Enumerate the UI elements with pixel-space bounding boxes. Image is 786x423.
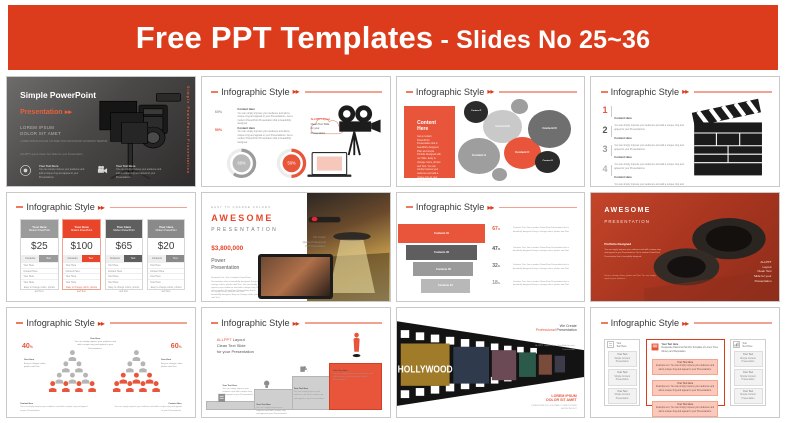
slide33-header-title: Infographic Style [26,318,94,328]
column-right-box-2: Your Text Simple Content Presentation [734,369,763,385]
column-left-box3-body: Simple Content Presentation [610,394,635,401]
slide34-step2-title: Your Text Here [256,404,270,406]
slide33-foot-left-body: You can simply impress your audience and… [20,406,88,412]
slide30-title: AWESOME [211,213,273,223]
chart-icon [733,341,740,348]
pricing-card-4-subhead: Modern PowerPoint [156,229,177,232]
bubble-content-a[interactable]: Content A [458,138,499,174]
donut-60-label: 60% [237,160,246,165]
dash-icon [211,91,218,93]
slide30-body2: Get a modern PowerPoint Presentation tha… [211,290,261,300]
slide31-header-title: Infographic Style [416,202,484,212]
column-mid-box3-body: Example text. You can simply impress you… [654,407,716,414]
column-right-box2-title: Your Text [743,372,753,374]
slide-thumbnail-33[interactable]: Infographic Style ▸▸ 40% Your Here Easy … [6,307,196,418]
funnel-bar-2[interactable]: Contents 02 [406,245,477,260]
puzzle-icon [299,365,308,375]
slide33-foot-left: Content Here You can simply impress your… [20,403,88,412]
slide27-panel-body1: Get a modern PowerPoint Presentation tha… [417,135,441,183]
slide25-title-line2: Presentation ▸▸ [20,106,72,116]
slide34-step-text-3: Your Text Here You can simply impress yo… [294,388,326,401]
column-mid-box1-body: Example text. You can simply impress you… [654,365,716,372]
slide-thumbnail-36[interactable]: Infographic Style ▸▸ Your Text Here [590,307,780,418]
pricing-card-4-foot: Easy to change colors, photos and Text. [148,284,184,297]
slide-25-canvas: Simple PowerPoint Presentation ▸▸ LOREM … [7,77,195,186]
slide32-section-title: Portfolio Designed [604,242,631,246]
pricing-card-1[interactable]: Your Here Modern PowerPoint $25 Contents… [20,219,58,291]
pricing-card-4-price: $20 [148,238,184,255]
slide25-title-text: Presentation [20,109,62,116]
slide33-foot-right-body: You can simply impress your audience and… [114,406,182,412]
bubble-content-f[interactable]: Content F [464,101,488,123]
header-rule [305,91,382,93]
funnel-pct-1: 67% [492,226,500,232]
slide-thumbnail-27[interactable]: Infographic Style ▸▸ Content Here Get a … [396,76,586,187]
slide33-foot-right: Content Here You can simply impress your… [114,403,182,412]
funnel-pct-3: 32% [492,263,500,269]
slide27-panel-body2: Get a modern PowerPoint Presentation tha… [417,185,441,187]
slide34-header-title: Infographic Style [221,318,289,328]
column-mid-box-3: Your Text Here Example text. You can sim… [652,401,718,417]
pricing-card-1-btn-right[interactable]: Text [39,255,57,263]
dash-icon [601,322,608,324]
slide30-eyebrow: EASY TO CHANGE COLORS [211,206,271,209]
camera-lenses-icon [644,193,779,302]
clapperboard-icon [683,97,773,182]
column-right-title2: Text Here [742,345,752,348]
slide-thumbnail-28[interactable]: Infographic Style ▸▸ 1 Content HereYou c… [590,76,780,187]
pricing-card-3[interactable]: Your Here Modern PowerPoint $65 Contents… [105,219,143,291]
column-right-box3-body: Simple Content Presentation [736,394,761,401]
pricing-card-1-subhead: Modern PowerPoint [29,229,50,232]
slide32-body2: Easy to change colors, photos and Text. … [604,275,660,281]
slide33-left-text: Your Here Easy to change colors, photos … [24,359,48,369]
slide33-mid-text: Your Here You can simply impress your au… [73,338,118,351]
slide25-body2: ALLPPT Layout Clean Text Slide for your … [20,153,82,157]
column-mid-box-2: Your Text Here Example text. You can sim… [652,380,718,396]
slide33-mid-body: You can simply impress your audience and… [73,341,118,351]
book-icon [651,343,659,351]
column-right-box2-body: Simple Content Presentation [736,376,761,383]
column-mid-box3-title: Your Text Here [677,404,693,406]
bubble-content-e[interactable]: Content E [535,151,559,173]
lightbulb-icon [262,379,271,389]
header-rule [110,207,187,209]
column-left-box2-title: Your Text [617,372,627,374]
divider [611,126,612,137]
slide-32-canvas: AWESOME PRESENTATION Portfolio Designed … [591,193,779,302]
dash-icon [211,322,218,324]
slide26-row1-body: You can simply impress your audience and… [237,112,293,126]
pricing-card-2-subhead: Modern PowerPoint [71,229,92,232]
column-left-box1-body: Simple Content Presentation [610,358,635,365]
slide-thumbnail-32[interactable]: AWESOME PRESENTATION Portfolio Designed … [590,192,780,303]
stair-step-1 [206,401,259,411]
banner-main-text: Free PPT Templates [136,20,434,55]
slide25-subtitle: LOREM IPSUM DOLOR SIT AMET [20,125,61,138]
column-right-box1-body: Simple Content Presentation [736,358,761,365]
dash-icon [406,206,413,208]
slide35-caption-sub: LOREM IPSUM DOLOR SIT AMET CONSECTETUER … [520,405,576,411]
page-title: Free PPT Templates - Slides No 25~36 [136,20,651,56]
slide35-caption: LOREM IPSUM DOLOR SIT AMET [546,394,577,403]
slide35-title: We Create Professional Presentation [536,324,577,334]
slide-grid: Simple PowerPoint Presentation ▸▸ LOREM … [6,76,780,418]
slide34-step2-body: You can simply impress your audience and… [256,407,288,416]
dash-icon [406,91,413,93]
people-pyramid-red [112,338,161,401]
trophy-person-icon [350,332,363,362]
slide-26-canvas: Infographic Style ▸▸ 60% Content Here Yo… [202,77,390,186]
tablet-icon [258,254,333,300]
slide34-lead: ALLPPT Layout Clean Text Slide for your … [217,337,254,356]
slide34-step-text-1: Your Text Here You can simply impress yo… [222,385,254,398]
slide-36-canvas: Infographic Style ▸▸ Your Text Here [591,308,779,417]
pricing-card-2-btn-right[interactable]: Text [82,255,100,263]
slide25-body1: LOREM IPSUM DOLOR SIT AMET DOLOR NONUMY … [20,140,107,144]
arrow-right-icon: ▸▸ [65,109,72,116]
pricing-card-4-btn-right[interactable]: Text [166,255,184,263]
slide-29-canvas: Infographic Style ▸▸ Your Here Modern Po… [7,193,195,302]
header-rule [499,91,576,93]
column-right-box-3: Your Text Simple Content Presentation [734,388,763,404]
column-left[interactable]: Your Text Here Your Text Simple Content … [604,339,640,406]
slide30-amount: $3,800,000 [211,245,243,252]
arrow-right-icon: ▸▸ [682,319,688,328]
slide28-item-4: 4 Content HereYou can simply impress you… [603,165,687,187]
slide34-step4-body: You can simply impress your audience and… [333,373,374,382]
divider [611,106,612,117]
arrow-right-icon: ▸▸ [487,203,493,212]
funnel-pct-4: 18% [492,280,500,286]
column-mid-box2-title: Your Text Here [677,383,693,385]
slide-thumbnail-26[interactable]: Infographic Style ▸▸ 60% Content Here Yo… [201,76,391,187]
header-rule [305,322,382,324]
column-left-title2: Text Here [616,345,626,348]
slide25-side-text: Simple PowerPoint Presentation [186,86,190,174]
slide28-title-1: Content Here [614,116,632,120]
target-icon [20,165,31,176]
slide32-subtitle: PRESENTATION [604,219,650,224]
funnel-bar-1[interactable]: Contents 01 [398,224,484,242]
donut-chart-60: 60% [219,147,264,180]
slide33-right-text: Your Here Easy to change colors, photos … [161,359,185,369]
slide36-header-title: Infographic Style [611,318,679,328]
slide-thumbnail-31[interactable]: Infographic Style ▸▸ Contents 01 Content… [396,192,586,303]
pricing-card-3-btn-left[interactable]: Contents [106,255,124,263]
template-preview-page: Free PPT Templates - Slides No 25~36 [0,0,786,423]
slide35-title-rest: Presentation [556,328,577,332]
slide-thumbnail-30[interactable]: EASY TO CHANGE COLORS AWESOME PRESENTATI… [201,192,391,303]
bubble-content-d[interactable]: Content D [528,110,571,148]
slide34-lead-rest: Layout [232,337,245,342]
slide33-right-title: Your Here [161,359,171,361]
slide-31-canvas: Infographic Style ▸▸ Contents 01 Content… [397,193,585,302]
pricing-card-1-price: $25 [21,238,57,255]
funnel-bar-4[interactable]: Contents 04 [421,279,470,293]
column-mid-subtitle: Desperate Diamond that this Template of … [662,346,719,352]
slide34-step1-body: You can simply impress your audience and… [222,388,254,397]
arrow-right-icon: ▸▸ [487,87,493,96]
funnel-body-2: Contents Text. Get a modern PowerPoint P… [513,247,573,253]
slide28-num-3: 3 [603,145,608,154]
pricing-card-3-price: $65 [106,238,142,255]
slide32-body1: You can simply impress your audience and… [604,249,664,259]
pricing-card-4-btn-left[interactable]: Contents [148,255,166,263]
column-right-box3-title: Your Text [743,391,753,393]
column-mid-box2-body: Example text. You can simply impress you… [654,386,716,393]
slide33-mid-title: Your Here [90,338,100,340]
projector-icon [328,99,384,159]
slide29-header: Infographic Style ▸▸ [16,202,187,212]
slide26-row1-pct: 60% [215,110,234,114]
slide-thumbnail-34[interactable]: Infographic Style ▸▸ ALLPPT Layout Clean… [201,307,391,418]
slide33-header: Infographic Style ▸▸ [16,318,187,328]
slide32-right-line5: Presentation [754,279,772,284]
slide33-right-pct: 60% [171,343,182,350]
slide28-title-3: Content Here [614,155,632,159]
funnel-body-1: Contents Text. Get a modern PowerPoint P… [513,227,573,233]
slide30-right-text: We Create Quality Professional PPT Prese… [303,236,326,249]
column-mid-box1-title: Your Text Here [677,362,693,364]
column-left-box-3: Your Text Simple Content Presentation [608,388,637,404]
slide27-header-title: Infographic Style [416,87,484,97]
slide28-body-4: You can simply impress your audience and… [614,183,687,187]
pricing-card-3-foot: Easy to change colors, photos and Text. [106,284,142,297]
header-rule [110,322,187,324]
arrow-right-icon: ▸▸ [293,319,299,328]
header-rule [694,91,771,93]
slide33-right-body: Easy to change colors, photos and Text. [161,363,185,370]
slide28-num-4: 4 [603,165,608,174]
bubble-decor-2 [492,168,507,181]
slide34-step3-title: Your Text Here [294,388,308,390]
divider [611,165,612,176]
slide26-row2: Content Here You can simply impress your… [237,126,293,145]
column-mid[interactable]: Your Text Here Desperate Diamond that th… [646,339,725,406]
slide28-num-2: 2 [603,126,608,135]
column-left-box-1: Your Text Simple Content Presentation [608,351,637,367]
slide30-h2-line2: Presentation [211,265,239,272]
slide26-header: Infographic Style ▸▸ [211,87,382,97]
slide26-row1: Content Here You can simply impress your… [237,107,293,126]
slide30-right-line3: PPT Presentation [303,245,326,249]
pricing-card-1-btn-left[interactable]: Contents [21,255,39,263]
slide26-header-title: Infographic Style [221,87,289,97]
slide-34-canvas: Infographic Style ▸▸ ALLPPT Layout Clean… [202,308,390,417]
slide30-h2-line1: Power [211,258,239,265]
slide31-header: Infographic Style ▸▸ [406,202,577,212]
slide32-right-text: ALLPPT Layout Clean Text Slide for your … [754,260,772,283]
hollywood-label: HOLLYWOOD [397,364,452,375]
laptop-icon [305,151,354,179]
slide25-title-line1: Simple PowerPoint [20,90,96,100]
funnel-pct-2: 47% [492,246,500,252]
slide30-subtitle: PRESENTATION [211,227,278,233]
banner-sub-text: - Slides No 25~36 [433,26,650,54]
pricing-card-2-btn-left[interactable]: Contents [63,255,81,263]
slide27-header: Infographic Style ▸▸ [406,87,577,97]
column-right[interactable]: Your Text Here Your Text Simple Content … [730,339,766,406]
slide35-caption-line2: DOLOR SIT AMET [546,398,577,403]
dash-icon [601,91,608,93]
slide29-header-title: Infographic Style [26,202,94,212]
slide-thumbnail-25[interactable]: Simple PowerPoint Presentation ▸▸ LOREM … [6,76,196,187]
slide25-subtitle-line2: DOLOR SIT AMET [20,131,61,137]
movie-camera-icon [97,165,108,176]
column-left-box2-body: Simple Content Presentation [610,376,635,383]
slide33-left-title: Your Here [24,359,34,361]
slide35-title-red: Professional [536,328,556,332]
column-right-box1-title: Your Text [743,354,753,356]
pricing-card-1-foot: Easy to change colors, photos and Text. [21,284,57,297]
dash-icon [16,206,23,208]
funnel-body-4: Contents Text. Get a modern PowerPoint P… [513,281,573,287]
slide-33-canvas: Infographic Style ▸▸ 40% Your Here Easy … [7,308,195,417]
slide26-row2-pct: 50% [215,128,234,132]
slide34-step-text-2: Your Text Here You can simply impress yo… [256,404,288,417]
column-left-box3-title: Your Text [617,391,627,393]
slide34-header: Infographic Style ▸▸ [211,318,382,328]
divider [611,145,612,156]
slide34-step-text-4: Your Text Here You can simply impress yo… [333,370,374,383]
column-right-box-1: Your Text Simple Content Presentation [734,351,763,367]
slide28-title-4: Content Here [614,175,632,179]
slide34-lead-line3: for your Presentation [217,349,254,355]
column-left-box-2: Your Text Simple Content Presentation [608,369,637,385]
slide-thumbnail-35[interactable]: HOLLYWOOD We Create Professional Present… [396,307,586,418]
slide32-title: AWESOME [604,207,650,214]
column-left-box1-title: Your Text [617,354,627,356]
header-rule [499,207,576,209]
arrow-right-icon: ▸▸ [682,87,688,96]
pricing-card-2-price: $100 [63,238,99,255]
slide-30-canvas: EASY TO CHANGE COLORS AWESOME PRESENTATI… [202,193,390,302]
list-icon [607,341,614,348]
slide28-title-2: Content Here [614,136,632,140]
slide-35-canvas: HOLLYWOOD We Create Professional Present… [397,308,585,417]
pricing-card-4[interactable]: Your Here Modern PowerPoint $20 Contents… [147,219,185,291]
slide33-left-pct: 40% [22,343,33,350]
pricing-card-2-foot: Easy to change colors, photos and Text. [63,284,99,297]
page-banner: Free PPT Templates - Slides No 25~36 [8,5,778,70]
slide34-step3-body: You can simply impress your audience and… [294,391,326,400]
slide28-header-title: Infographic Style [611,87,679,97]
bubble-decor-1 [511,99,528,114]
donut-50-label: 50% [288,160,297,165]
slide32-right-line4: Slide for your [754,274,772,279]
arrow-right-icon: ▸▸ [98,203,104,212]
slide27-panel-title2: Here [417,127,441,133]
dash-icon [16,322,23,324]
slide27-content-panel: Content Here Get a modern PowerPoint Pre… [404,106,455,178]
funnel-bar-3[interactable]: Contents 03 [413,262,473,276]
slide-thumbnail-29[interactable]: Infographic Style ▸▸ Your Here Modern Po… [6,192,196,303]
slide36-header: Infographic Style ▸▸ [601,318,772,328]
slide33-foot-left-title: Content Here [20,403,33,405]
header-rule [694,322,771,324]
slide33-foot-right-title: Content Here [169,403,182,405]
slide25-block-a: Your Text Here You can simply impress yo… [39,164,88,179]
slide-28-canvas: Infographic Style ▸▸ 1 Content HereYou c… [591,77,779,186]
slide28-num-1: 1 [603,106,608,115]
tablet-screen [261,257,330,297]
arrow-right-icon: ▸▸ [293,87,299,96]
slide34-step4-title: Your Text Here [333,370,347,372]
slide34-lead-red: ALLPPT [217,337,232,342]
pricing-card-2[interactable]: Your Here Modern PowerPoint $100 Content… [62,219,100,291]
column-mid-box-1: Your Text Here Example text. You can sim… [652,359,718,375]
pricing-card-3-btn-right[interactable]: Text [124,255,142,263]
pricing-card-3-subhead: Modern PowerPoint [113,229,134,232]
arrow-right-icon: ▸▸ [98,319,104,328]
slide25-block-b-body: You can simply impress your audience and… [116,168,161,178]
slide28-header: Infographic Style ▸▸ [601,87,772,97]
slide25-block-b: Your Text Here You can simply impress yo… [116,164,165,179]
funnel-body-3: Contents Text. Get a modern PowerPoint P… [513,264,573,270]
slide33-left-body: Easy to change colors, photos and Text. [24,363,48,370]
slide35-body: ALLPPT Layout Clean Text Slide for your … [530,345,575,352]
slide-27-canvas: Infographic Style ▸▸ Content Here Get a … [397,77,585,186]
slide26-row2-body: You can simply impress your audience and… [237,130,293,144]
slide25-block-a-body: You can simply impress your audience and… [39,168,84,178]
slide34-step1-title: Your Text Here [222,385,236,387]
